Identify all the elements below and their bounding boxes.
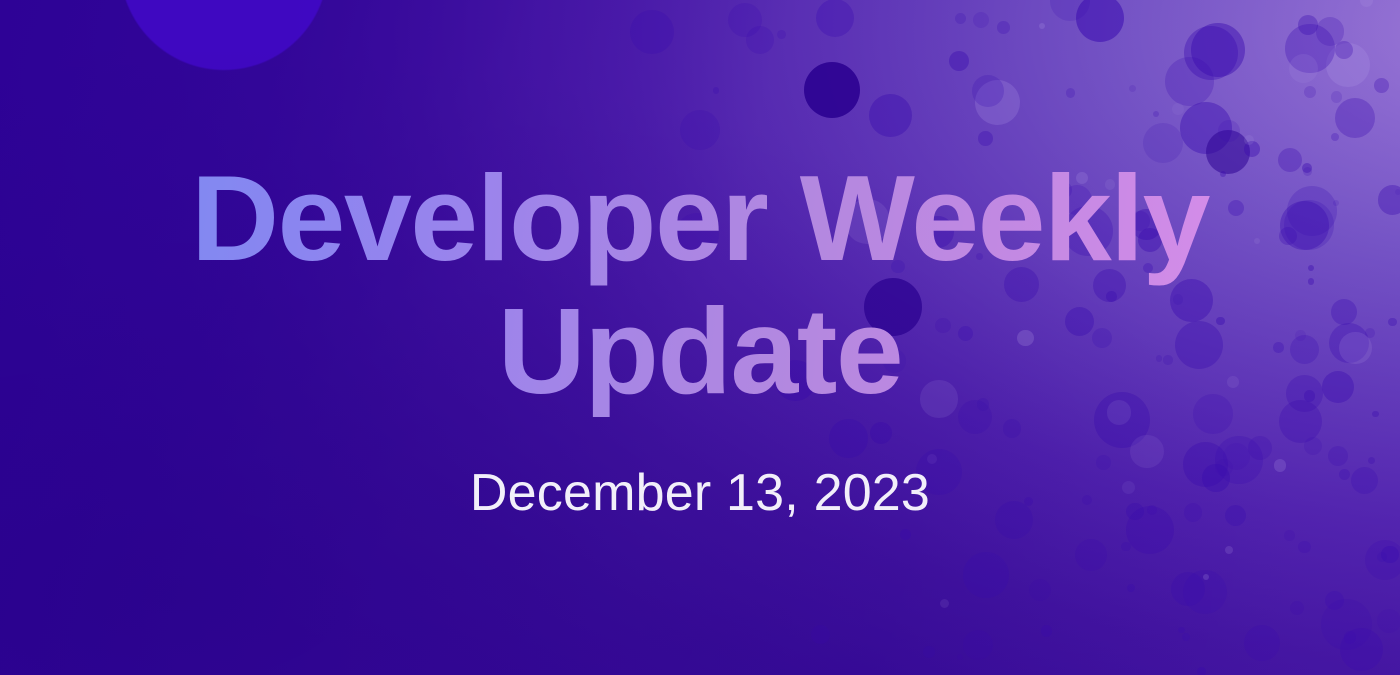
issue-date: December 13, 2023 xyxy=(470,463,930,523)
developer-weekly-update-banner: Developer Weekly Update December 13, 202… xyxy=(0,0,1400,675)
page-title: Developer Weekly Update xyxy=(140,152,1260,418)
banner-content: Developer Weekly Update December 13, 202… xyxy=(0,0,1400,675)
